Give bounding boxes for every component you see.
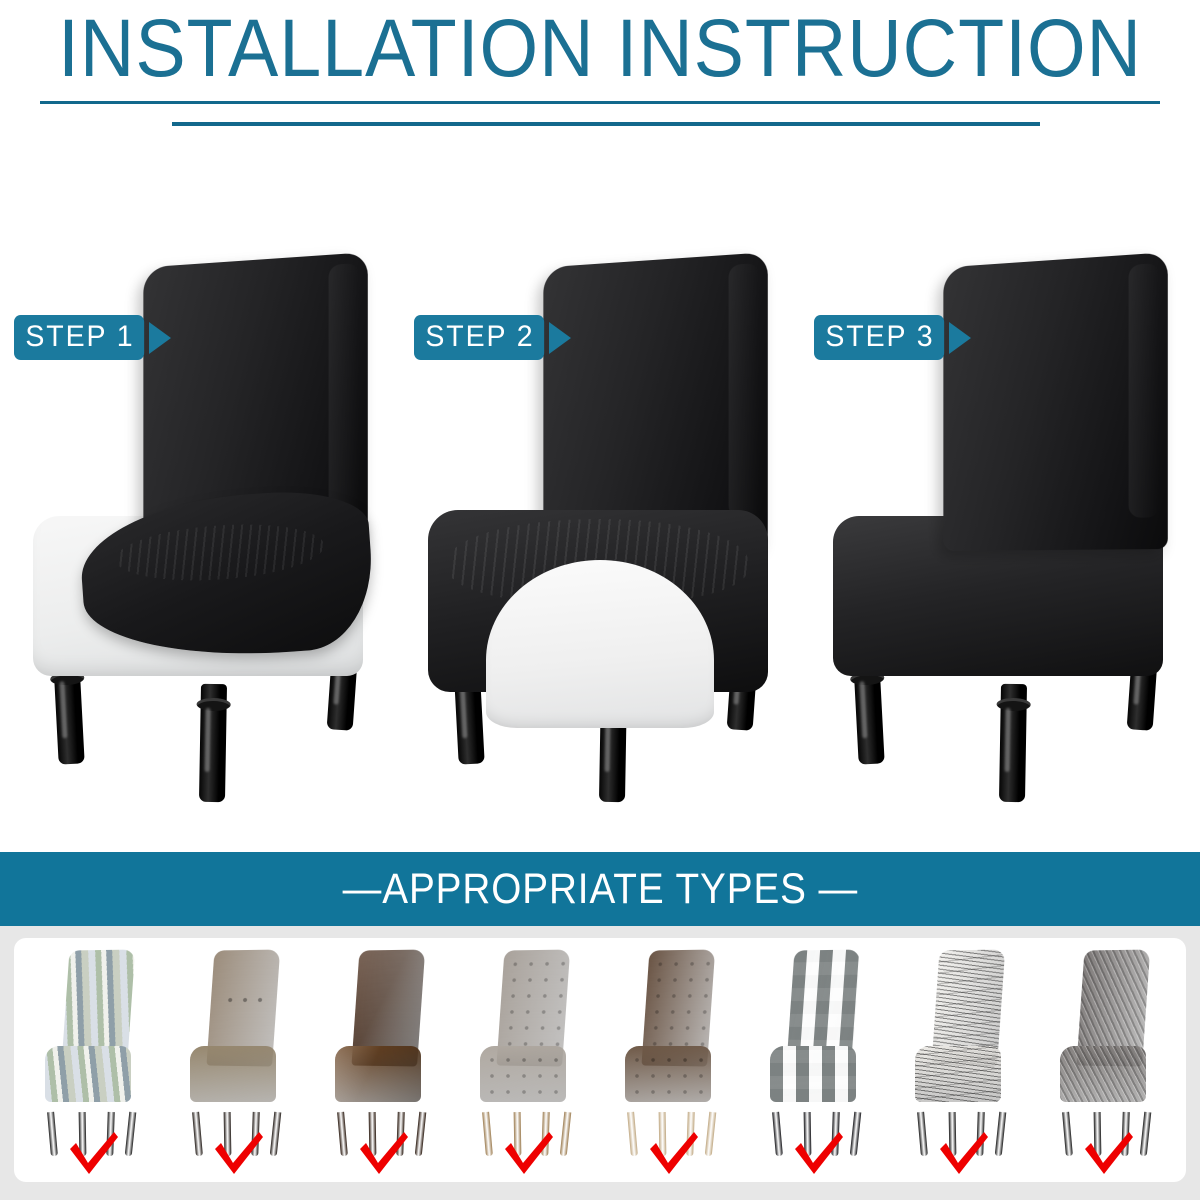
chair-thumbnail bbox=[1056, 950, 1160, 1126]
chair-thumb-leg bbox=[917, 1112, 928, 1156]
chair-thumb-seat bbox=[480, 1046, 566, 1102]
tufting-pattern bbox=[480, 1046, 566, 1102]
installation-steps-row: STEP 1 STEP 2 STEP 3 bbox=[0, 150, 1200, 840]
chair-thumb-leg bbox=[1139, 1112, 1151, 1156]
chair-thumb-leg bbox=[772, 1112, 783, 1156]
chair-type-gray-diamond-tufted-chair bbox=[459, 940, 597, 1176]
chair-thumb-seat bbox=[335, 1046, 421, 1102]
chair-thumbnail bbox=[41, 950, 145, 1126]
chair-thumb-leg bbox=[337, 1112, 348, 1156]
chair-type-french-script-print-chair bbox=[894, 940, 1032, 1176]
chair-thumb-leg bbox=[482, 1112, 493, 1156]
page-header: INSTALLATION INSTRUCTION bbox=[0, 0, 1200, 145]
chair-type-gray-buffalo-check-chair bbox=[749, 940, 887, 1176]
chair-thumb-leg bbox=[192, 1112, 203, 1156]
triangle-right-icon bbox=[949, 322, 971, 354]
chair-thumbnail bbox=[621, 950, 725, 1126]
chair-thumbnail bbox=[331, 950, 435, 1126]
chair-backrest-covered bbox=[543, 252, 767, 551]
page-title: INSTALLATION INSTRUCTION bbox=[48, 6, 1152, 92]
button-detail bbox=[222, 996, 264, 1004]
chair-thumb-leg bbox=[559, 1112, 571, 1156]
tufting-pattern bbox=[625, 1046, 711, 1102]
chair-thumb-leg bbox=[627, 1112, 638, 1156]
chair-type-brown-leather-chair bbox=[314, 940, 452, 1176]
chair-thumb-seat bbox=[915, 1046, 1001, 1102]
chair-thumb-leg bbox=[47, 1112, 58, 1156]
step-cell-3: STEP 3 bbox=[800, 150, 1200, 840]
chair-type-brown-tufted-turned-leg-chair bbox=[604, 940, 742, 1176]
divider-rule-bottom bbox=[172, 122, 1040, 126]
red-check-icon bbox=[936, 1130, 990, 1176]
red-check-icon bbox=[356, 1130, 410, 1176]
chair-thumb-seat bbox=[1060, 1046, 1146, 1102]
red-check-icon bbox=[501, 1130, 555, 1176]
chair-thumb-leg bbox=[994, 1112, 1006, 1156]
red-check-icon bbox=[211, 1130, 265, 1176]
step-badge-label-2: STEP 2 bbox=[414, 315, 544, 360]
chair-thumb-leg bbox=[269, 1112, 281, 1156]
chair-thumb-seat bbox=[770, 1046, 856, 1102]
chair-thumbnail bbox=[476, 950, 580, 1126]
chair-type-gray-textured-velvet-chair bbox=[1039, 940, 1177, 1176]
chair-thumb-seat bbox=[625, 1046, 711, 1102]
chair-leg bbox=[199, 684, 227, 802]
chair-thumb-leg bbox=[1062, 1112, 1073, 1156]
chair-thumbnail bbox=[911, 950, 1015, 1126]
chair-thumb-leg bbox=[414, 1112, 426, 1156]
chair-thumb-leg bbox=[124, 1112, 136, 1156]
divider-rule-top bbox=[40, 101, 1160, 104]
chair-types-card bbox=[14, 938, 1186, 1182]
red-check-icon bbox=[66, 1130, 120, 1176]
chair-thumbnail bbox=[186, 950, 290, 1126]
chair-thumbnail bbox=[766, 950, 870, 1126]
chair-thumb-seat bbox=[190, 1046, 276, 1102]
step-badge-3: STEP 3 bbox=[814, 315, 971, 360]
chair-thumb-leg bbox=[704, 1112, 716, 1156]
appropriate-types-banner: —APPROPRIATE TYPES — bbox=[0, 852, 1200, 926]
red-check-icon bbox=[791, 1130, 845, 1176]
step-badge-label-3: STEP 3 bbox=[814, 315, 944, 360]
chair-type-taupe-button-tufted-chair bbox=[169, 940, 307, 1176]
step-cell-2: STEP 2 bbox=[400, 150, 800, 840]
step-badge-1: STEP 1 bbox=[14, 315, 171, 360]
triangle-right-icon bbox=[549, 322, 571, 354]
red-check-icon bbox=[1081, 1130, 1135, 1176]
step-cell-1: STEP 1 bbox=[0, 150, 400, 840]
step-badge-2: STEP 2 bbox=[414, 315, 571, 360]
chair-leg bbox=[999, 684, 1027, 802]
appropriate-types-panel bbox=[0, 926, 1200, 1200]
step-badge-label-1: STEP 1 bbox=[14, 315, 144, 360]
appropriate-types-title: —APPROPRIATE TYPES — bbox=[342, 866, 857, 912]
triangle-right-icon bbox=[149, 322, 171, 354]
chair-backrest-covered bbox=[943, 252, 1167, 551]
red-check-icon bbox=[646, 1130, 700, 1176]
chair-thumb-seat bbox=[45, 1046, 131, 1102]
chair-thumb-leg bbox=[849, 1112, 861, 1156]
chair-type-abstract-patchwork-slipper-chair bbox=[24, 940, 162, 1176]
